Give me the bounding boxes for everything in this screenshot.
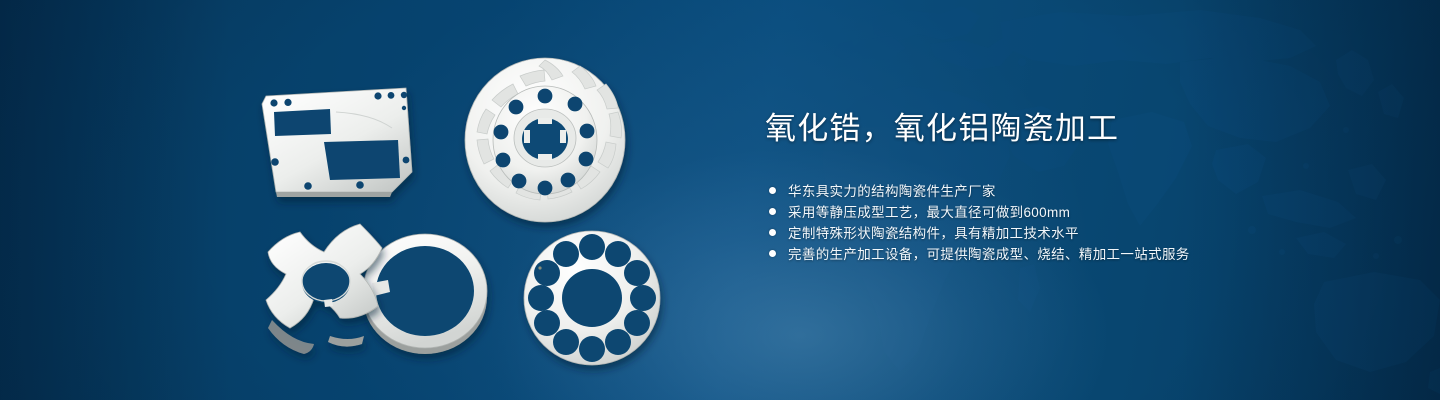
feature-list-item: 华东具实力的结构陶瓷件生产厂家	[765, 180, 1385, 201]
bullet-dot-icon	[769, 250, 776, 257]
bullet-dot-icon	[769, 187, 776, 194]
bullet-dot-icon	[769, 208, 776, 215]
banner-headline: 氧化锆，氧化铝陶瓷加工	[765, 110, 1385, 149]
banner-copy: 氧化锆，氧化铝陶瓷加工 华东具实力的结构陶瓷件生产厂家 采用等静压成型工艺，最大…	[765, 110, 1385, 264]
feature-text: 定制特殊形状陶瓷结构件，具有精加工技术水平	[788, 222, 1079, 242]
feature-text: 完善的生产加工设备，可提供陶瓷成型、烧结、精加工一站式服务	[788, 243, 1190, 263]
feature-text: 采用等静压成型工艺，最大直径可做到600mm	[788, 201, 1070, 221]
bullet-dot-icon	[769, 229, 776, 236]
feature-list-item: 完善的生产加工设备，可提供陶瓷成型、烧结、精加工一站式服务	[765, 243, 1385, 264]
hero-banner: 氧化锆，氧化铝陶瓷加工 华东具实力的结构陶瓷件生产厂家 采用等静压成型工艺，最大…	[0, 0, 1440, 400]
feature-text: 华东具实力的结构陶瓷件生产厂家	[788, 180, 996, 200]
feature-list: 华东具实力的结构陶瓷件生产厂家 采用等静压成型工艺，最大直径可做到600mm 定…	[765, 180, 1385, 264]
feature-list-item: 定制特殊形状陶瓷结构件，具有精加工技术水平	[765, 222, 1385, 243]
feature-list-item: 采用等静压成型工艺，最大直径可做到600mm	[765, 201, 1385, 222]
